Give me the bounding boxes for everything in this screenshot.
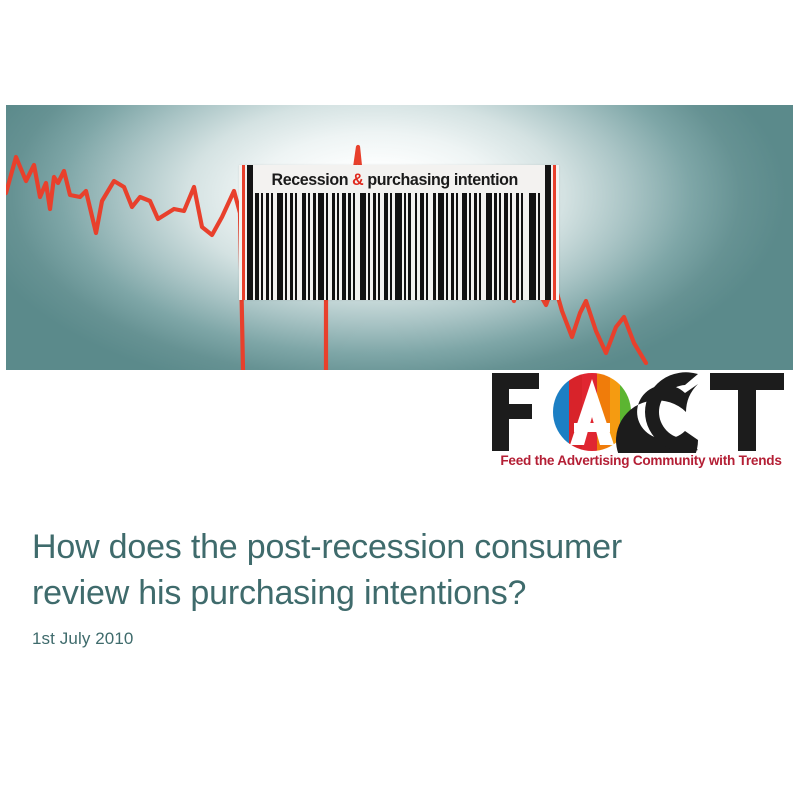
slide-canvas: Recession & purchasing intention (0, 0, 800, 800)
letter-c-glyph (616, 372, 698, 453)
trend-line-left (6, 157, 243, 370)
barcode-bar (285, 193, 287, 300)
barcode-bar (295, 193, 297, 300)
barcode-caption: Recession & purchasing intention (257, 169, 532, 191)
barcode-bar (318, 193, 324, 300)
barcode-bar (521, 193, 523, 300)
barcode-bar (337, 193, 339, 300)
barcode-bar (395, 193, 402, 300)
barcode-bar (451, 193, 454, 300)
barcode-bar (516, 193, 519, 300)
barcode-bar (332, 193, 335, 300)
fact-logo: Feed the Advertising Community with Tren… (488, 371, 794, 479)
barcode-bar (271, 193, 273, 300)
barcode-bar (313, 193, 316, 300)
barcode-bar (408, 193, 411, 300)
barcode-caption-ampersand: & (352, 171, 363, 189)
barcode-bar (290, 193, 293, 300)
barcode-bar (538, 193, 540, 300)
barcode-bar (342, 193, 346, 300)
page-title-line-2: review his purchasing intentions? (32, 570, 762, 616)
letter-f-glyph (492, 373, 539, 451)
barcode-bar (420, 193, 424, 300)
barcode-bar (373, 193, 376, 300)
fact-wordmark-svg (488, 371, 794, 453)
letter-t-glyph (710, 373, 784, 451)
barcode-bar (494, 193, 497, 300)
barcode-bar (446, 193, 448, 300)
barcode-bar (261, 193, 263, 300)
barcode-bar (266, 193, 269, 300)
barcode-bar (510, 193, 512, 300)
barcode-bar (353, 193, 355, 300)
barcode-bar (404, 193, 406, 300)
barcode-bar (438, 193, 444, 300)
fact-tagline: Feed the Advertising Community with Tren… (488, 453, 794, 468)
barcode-bar (348, 193, 351, 300)
barcode-bar (384, 193, 388, 300)
barcode-bar (277, 193, 283, 300)
barcode-guard-bar-right (545, 165, 551, 300)
barcode-bar (469, 193, 471, 300)
barcode-bar (474, 193, 477, 300)
page-title-line-1: How does the post-recession consumer (32, 524, 762, 570)
fact-wordmark (488, 371, 794, 453)
barcode-bar (378, 193, 380, 300)
page-date: 1st July 2010 (32, 628, 133, 650)
barcode-bar (426, 193, 428, 300)
barcode-bar (255, 193, 259, 300)
barcode-bar (504, 193, 508, 300)
barcode-bar (326, 193, 328, 300)
barcode-bar (486, 193, 492, 300)
barcode-bar (360, 193, 366, 300)
barcode-bar (302, 193, 306, 300)
barcode-caption-after: purchasing intention (363, 171, 518, 189)
barcode-bars (255, 193, 543, 300)
barcode-bar (433, 193, 436, 300)
barcode-bar (368, 193, 370, 300)
barcode-caption-before: Recession (272, 171, 353, 189)
barcode-bar (415, 193, 417, 300)
barcode-graphic: Recession & purchasing intention (239, 165, 559, 300)
page-title: How does the post-recession consumer rev… (32, 524, 762, 616)
barcode-bar (308, 193, 310, 300)
barcode-red-guard-left (242, 165, 245, 300)
barcode-guard-bar-left (247, 165, 253, 300)
barcode-bar (479, 193, 481, 300)
barcode-bar (499, 193, 501, 300)
barcode-bar (456, 193, 458, 300)
barcode-bar (390, 193, 392, 300)
barcode-bar (529, 193, 536, 300)
barcode-red-guard-right (553, 165, 556, 300)
barcode-bar (462, 193, 467, 300)
